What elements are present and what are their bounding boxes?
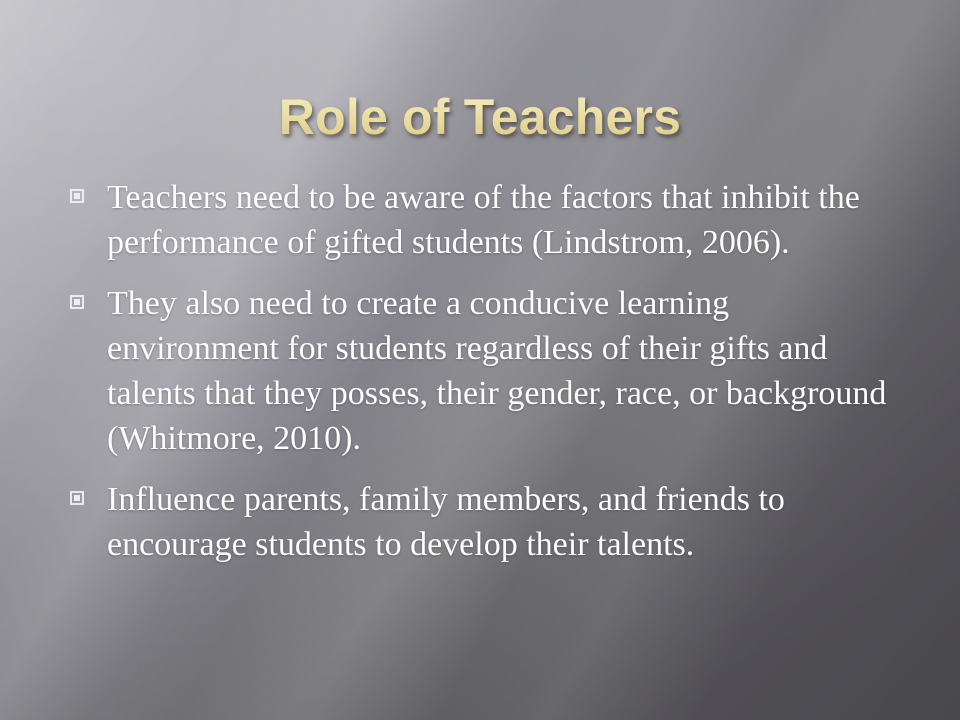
list-item[interactable]: Influence parents, family members, and f… [70,477,930,567]
presentation-slide: Role of Teachers Teachers need to be awa… [0,0,960,720]
bullet-list: Teachers need to be aware of the factors… [70,175,930,567]
list-item-text: They also need to create a conducive lea… [107,281,907,461]
slide-content: Role of Teachers Teachers need to be awa… [0,0,960,720]
list-item[interactable]: Teachers need to be aware of the factors… [70,175,930,265]
square-in-square-bullet-icon [70,491,84,505]
list-item[interactable]: They also need to create a conducive lea… [70,281,930,461]
list-item-text: Influence parents, family members, and f… [107,477,907,567]
square-in-square-bullet-icon [70,189,84,203]
list-item-text: Teachers need to be aware of the factors… [107,175,907,265]
square-in-square-bullet-icon [70,295,84,309]
slide-title: Role of Teachers [0,87,960,147]
